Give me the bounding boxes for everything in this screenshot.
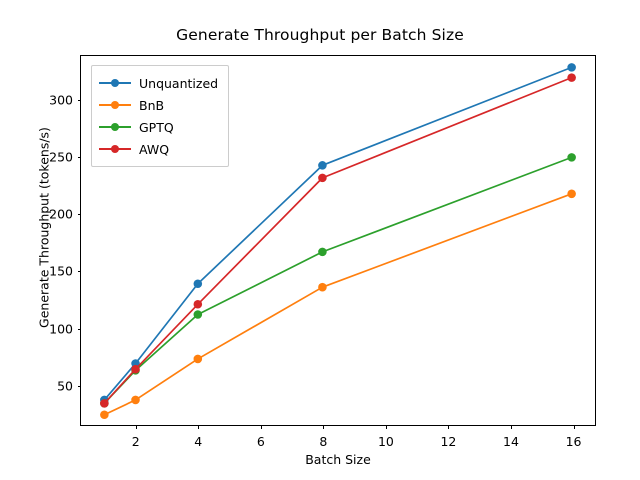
x-tick-label: 16 xyxy=(566,434,582,449)
series-bnb xyxy=(100,190,576,419)
series-line xyxy=(104,194,571,415)
data-point-marker xyxy=(100,399,109,408)
chart-figure: Generate Throughput per Batch Size Unqua… xyxy=(0,0,640,480)
data-point-marker xyxy=(100,410,109,419)
y-tick-mark xyxy=(78,271,82,272)
x-tick-mark xyxy=(448,425,449,429)
data-point-marker xyxy=(567,190,576,199)
data-point-marker xyxy=(318,174,327,183)
data-point-marker xyxy=(567,63,576,72)
legend-label: BnB xyxy=(139,98,164,113)
data-point-marker xyxy=(131,396,140,405)
x-axis-label: Batch Size xyxy=(80,452,596,467)
data-point-marker xyxy=(131,365,140,374)
plot-axes: UnquantizedBnBGPTQAWQ 501001502002503002… xyxy=(80,55,596,426)
legend-item-gptq[interactable]: GPTQ xyxy=(99,116,218,138)
y-tick-mark xyxy=(78,386,82,387)
legend-swatch-icon xyxy=(99,120,131,134)
data-point-marker xyxy=(318,161,327,170)
legend-swatch-icon xyxy=(99,98,131,112)
legend-label: Unquantized xyxy=(139,76,218,91)
series-gptq xyxy=(100,153,576,408)
data-point-marker xyxy=(194,355,203,364)
x-tick-mark xyxy=(261,425,262,429)
data-point-marker xyxy=(194,300,203,309)
legend-label: GPTQ xyxy=(139,120,174,135)
x-tick-mark xyxy=(136,425,137,429)
data-point-marker xyxy=(567,153,576,162)
data-point-marker xyxy=(567,73,576,82)
legend-item-bnb[interactable]: BnB xyxy=(99,94,218,116)
legend-swatch-icon xyxy=(99,76,131,90)
x-tick-label: 6 xyxy=(257,434,265,449)
x-tick-label: 14 xyxy=(503,434,519,449)
x-tick-label: 4 xyxy=(194,434,202,449)
chart-title: Generate Throughput per Batch Size xyxy=(0,26,640,44)
x-tick-label: 2 xyxy=(132,434,140,449)
y-tick-mark xyxy=(78,214,82,215)
data-point-marker xyxy=(318,248,327,257)
x-tick-mark xyxy=(574,425,575,429)
data-point-marker xyxy=(194,310,203,319)
legend-label: AWQ xyxy=(139,142,169,157)
data-point-marker xyxy=(318,283,327,292)
x-tick-label: 8 xyxy=(319,434,327,449)
y-tick-mark xyxy=(78,329,82,330)
legend-item-awq[interactable]: AWQ xyxy=(99,138,218,160)
x-tick-mark xyxy=(386,425,387,429)
chart-legend: UnquantizedBnBGPTQAWQ xyxy=(91,65,229,167)
y-tick-mark xyxy=(78,100,82,101)
x-tick-mark xyxy=(323,425,324,429)
x-tick-mark xyxy=(198,425,199,429)
y-tick-mark xyxy=(78,157,82,158)
x-tick-label: 12 xyxy=(440,434,456,449)
x-tick-mark xyxy=(511,425,512,429)
data-point-marker xyxy=(194,279,203,288)
series-line xyxy=(104,157,571,403)
y-axis-label: Generate Throughput (tokens/s) xyxy=(37,38,52,418)
legend-swatch-icon xyxy=(99,142,131,156)
legend-item-unquantized[interactable]: Unquantized xyxy=(99,72,218,94)
x-tick-label: 10 xyxy=(378,434,394,449)
